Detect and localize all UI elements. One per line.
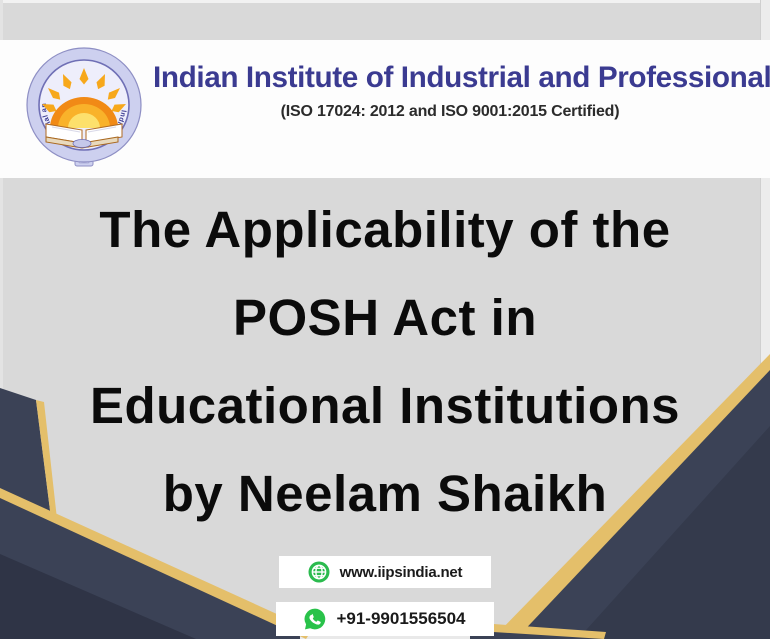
main-title-block: The Applicability of the POSH Act in Edu… — [0, 186, 770, 538]
certification-line: (ISO 17024: 2012 and ISO 9001:2015 Certi… — [150, 103, 750, 121]
website-text: www.iipsindia.net — [340, 564, 463, 581]
iips-logo: Indian Institute of Industrial and Profe… — [22, 44, 146, 174]
title-line-4: by Neelam Shaikh — [0, 450, 770, 538]
whatsapp-icon — [304, 608, 326, 630]
website-contact-box[interactable]: www.iipsindia.net — [279, 556, 491, 588]
organization-title: Indian Institute of Industrial and Profe… — [153, 62, 747, 94]
top-edge-strip — [0, 0, 770, 3]
globe-icon — [308, 561, 330, 583]
iips-emblem-logo: Indian Institute of Industrial and Profe… — [22, 44, 146, 174]
whatsapp-number-text: +91-9901556504 — [336, 609, 465, 629]
contact-info-group: www.iipsindia.net +91-9901556504 — [0, 556, 770, 636]
title-line-3: Educational Institutions — [0, 362, 770, 450]
poster-canvas: Indian Institute of Industrial and Profe… — [0, 0, 770, 639]
title-line-2: POSH Act in — [0, 274, 770, 362]
title-line-1: The Applicability of the — [0, 186, 770, 274]
header-text-block: Indian Institute of Industrial and Profe… — [150, 62, 750, 121]
whatsapp-contact-box[interactable]: +91-9901556504 — [276, 602, 494, 636]
